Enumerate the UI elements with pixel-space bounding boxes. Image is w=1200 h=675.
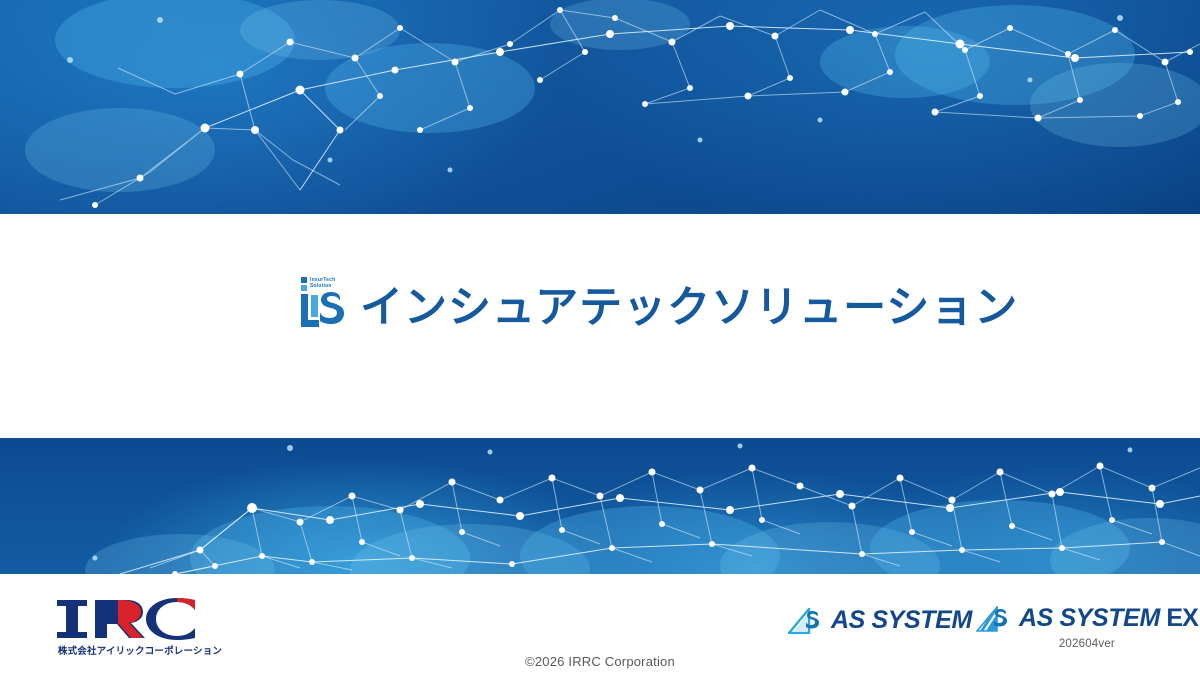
brand-lockup: InsurTech Solution インシュアテックソリューション (300, 276, 1018, 330)
top-glow-blobs (25, 0, 1200, 192)
logomark-tagline-line2: Solution (310, 283, 350, 289)
as-system-ex-triangle-icon (976, 606, 1010, 632)
as-system-ex-suffix: EX (1166, 604, 1197, 632)
bottom-network-pattern (0, 438, 1200, 574)
as-system-ex-logo: AS SYSTEM EX 202604ver (976, 604, 1198, 650)
logomark-square-dark (301, 277, 307, 283)
title-slide: InsurTech Solution インシュアテックソリューション 既存顧客へ… (0, 0, 1200, 675)
version-label: 202604ver (976, 638, 1198, 650)
as-system-ex-row: AS SYSTEM EX (976, 604, 1198, 633)
copyright-text: ©2026 IRRC Corporation (0, 654, 1200, 669)
irc-logo: 株式会社アイリックコーポレーション (55, 598, 225, 657)
logomark-square-light (301, 285, 307, 291)
as-system-ex-name: AS SYSTEM (1019, 604, 1160, 632)
top-banner-graphic (0, 0, 1200, 214)
as-system-wordmark: AS SYSTEM (831, 606, 972, 635)
slide-footer: 株式会社アイリックコーポレーション ©2026 IRRC Corporation… (0, 574, 1200, 675)
insurtech-solution-logo-icon: InsurTech Solution (300, 276, 346, 330)
irc-wordmark-icon (55, 598, 225, 640)
as-system-triangle-icon (788, 608, 822, 634)
as-system-ex-wordmark: AS SYSTEM EX (1019, 604, 1198, 633)
logomark-tagline: InsurTech Solution (310, 277, 350, 289)
page-title: インシュアテックソリューション (360, 287, 1018, 330)
title-block: InsurTech Solution インシュアテックソリューション 既存顧客へ… (0, 214, 1200, 438)
top-network-pattern (0, 0, 1200, 214)
as-system-logo: AS SYSTEM (788, 606, 972, 635)
bottom-banner-graphic (0, 438, 1200, 574)
